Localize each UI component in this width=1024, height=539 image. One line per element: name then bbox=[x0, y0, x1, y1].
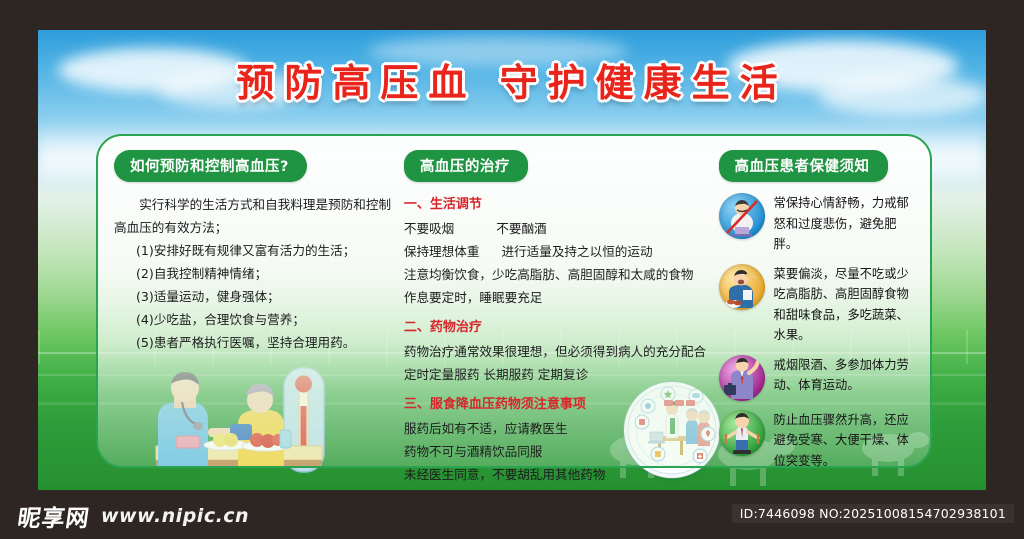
prevention-item: (4)少吃盐，合理饮食与营养； bbox=[114, 308, 392, 331]
prevention-item: (5)患者严格执行医嘱，坚持合理用药。 bbox=[114, 331, 392, 354]
patient-care-tips: 常保持心情舒畅，力戒郁怒和过度悲伤，避免肥胖。 bbox=[719, 193, 914, 471]
prevention-body: 实行科学的生活方式和自我料理是预防和控制高血压的有效方法； (1)安排好既有规律… bbox=[114, 193, 392, 354]
treatment-line: 保持理想体重 进行适量及持之以恒的运动 bbox=[404, 240, 709, 263]
treatment-subheading-lifestyle: 一、生活调节 bbox=[404, 193, 709, 216]
treatment-line-right: 进行适量及持之以恒的运动 bbox=[501, 244, 652, 259]
tip-row: 戒烟限酒、多参加体力劳动、体育运动。 bbox=[719, 355, 914, 401]
image-id-label: ID:7446098 NO:20251008154702938101 bbox=[732, 504, 1014, 523]
site-url: www.nipic.cn bbox=[101, 505, 249, 527]
tip-text: 菜要偏淡，尽量不吃或少吃高脂肪、高胆固醇食物和甜味食品，多吃蔬菜、水果。 bbox=[774, 264, 914, 346]
section-heading-patient-care: 高血压患者保健须知 bbox=[719, 150, 888, 182]
site-logo: 昵享网 bbox=[16, 499, 93, 533]
column-patient-care: 高血压患者保健须知 bbox=[709, 150, 914, 456]
tip-row: 常保持心情舒畅，力戒郁怒和过度悲伤，避免肥胖。 bbox=[719, 193, 914, 255]
watermark: 昵享网 www.nipic.cn bbox=[18, 499, 249, 533]
content-panel: 如何预防和控制高血压? 实行科学的生活方式和自我料理是预防和控制高血压的有效方法… bbox=[96, 134, 932, 468]
section-heading-prevention: 如何预防和控制高血压? bbox=[114, 150, 307, 182]
footer-bar: 昵享网 www.nipic.cn ID:7446098 NO:202510081… bbox=[0, 490, 1024, 539]
poster-canvas: 预防高压血 守护健康生活 bbox=[38, 30, 986, 490]
tip-row: 菜要偏淡，尽量不吃或少吃高脂肪、高胆固醇食物和甜味食品，多吃蔬菜、水果。 bbox=[719, 264, 914, 346]
businessman-icon bbox=[719, 355, 765, 401]
treatment-line: 服药后如有不适，应请教医生 bbox=[404, 417, 709, 440]
treatment-subheading-medication: 二、药物治疗 bbox=[404, 316, 709, 339]
treatment-line-left: 保持理想体重 bbox=[404, 244, 480, 259]
treatment-subheading-precautions: 三、服食降血压药物须注意事项 bbox=[404, 393, 709, 416]
tip-text: 戒烟限酒、多参加体力劳动、体育运动。 bbox=[774, 355, 914, 396]
prevention-intro: 实行科学的生活方式和自我料理是预防和控制高血压的有效方法； bbox=[114, 193, 392, 239]
treatment-line: 作息要定时，睡眠要充足 bbox=[404, 286, 709, 309]
prevention-item: (2)自我控制精神情绪； bbox=[114, 262, 392, 285]
eating-person-icon bbox=[719, 264, 765, 310]
tip-text: 防止血压骤然升高，还应避免受寒、大便干燥、体位突变等。 bbox=[774, 410, 914, 472]
section-heading-treatment: 高血压的治疗 bbox=[404, 150, 528, 182]
treatment-line: 定时定量服药 长期服药 定期复诊 bbox=[404, 363, 709, 386]
treatment-line: 药物不可与酒精饮品同服 bbox=[404, 440, 709, 463]
treatment-line: 药物治疗通常效果很理想，但必须得到病人的充分配合 bbox=[404, 340, 709, 363]
column-treatment: 高血压的治疗 一、生活调节 不要吸烟 不要酗酒 保持理想体重 进行适量及持之以恒… bbox=[392, 150, 709, 456]
treatment-line: 未经医生同意，不要胡乱用其他药物 bbox=[404, 463, 709, 486]
overweight-person-icon bbox=[719, 193, 765, 239]
prevention-item: (3)适量运动，健身强体； bbox=[114, 285, 392, 308]
treatment-line-left: 不要吸烟 bbox=[404, 221, 454, 236]
column-prevention: 如何预防和控制高血压? 实行科学的生活方式和自我料理是预防和控制高血压的有效方法… bbox=[114, 150, 392, 456]
prevention-item: (1)安排好既有规律又富有活力的生活； bbox=[114, 239, 392, 262]
tip-row: 防止血压骤然升高，还应避免受寒、大便干燥、体位突变等。 bbox=[719, 410, 914, 472]
tip-text: 常保持心情舒畅，力戒郁怒和过度悲伤，避免肥胖。 bbox=[774, 193, 914, 255]
treatment-body: 一、生活调节 不要吸烟 不要酗酒 保持理想体重 进行适量及持之以恒的运动 注意均… bbox=[404, 193, 709, 490]
treatment-line-right: 不要酗酒 bbox=[496, 221, 546, 236]
treatment-line: 注意均衡饮食，少吃高脂肪、高胆固醇和太咸的食物 bbox=[404, 263, 709, 286]
exercising-person-icon bbox=[719, 410, 765, 456]
treatment-line: 不要吸烟 不要酗酒 bbox=[404, 217, 709, 240]
page-title: 预防高压血 守护健康生活 bbox=[38, 52, 986, 107]
poster-frame: 预防高压血 守护健康生活 bbox=[0, 0, 1024, 539]
